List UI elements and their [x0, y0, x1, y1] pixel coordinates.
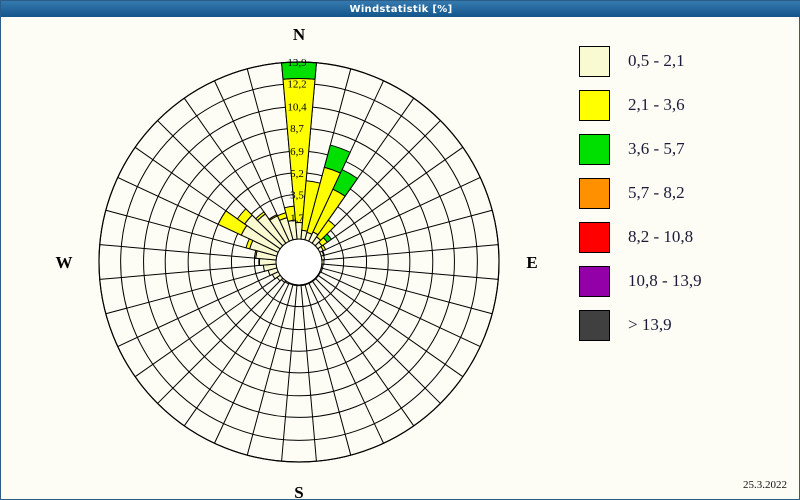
petal-s17-c0 — [301, 284, 305, 285]
legend-swatch — [579, 310, 610, 341]
radial-tick-7: 13,9 — [287, 57, 307, 69]
grid-spoke-13 — [315, 278, 440, 403]
legend-swatch — [579, 178, 610, 209]
legend-item-5[interactable]: 10,8 - 13,9 — [579, 259, 794, 303]
radial-tick-0: 1,7 — [290, 212, 304, 224]
radial-tick-3: 6,9 — [290, 146, 304, 158]
grid-spoke-10 — [321, 268, 492, 314]
petal-s27-c1 — [259, 259, 260, 266]
legend-item-6[interactable]: > 13,9 — [579, 303, 794, 347]
legend-label: 5,7 - 8,2 — [628, 183, 685, 203]
compass-label-east: E — [526, 253, 537, 272]
legend-swatch — [579, 266, 610, 297]
legend-item-1[interactable]: 2,1 - 3,6 — [579, 83, 794, 127]
legend-item-3[interactable]: 5,7 - 8,2 — [579, 171, 794, 215]
radial-tick-1: 3,5 — [290, 189, 304, 201]
grid-spoke-19 — [247, 284, 293, 455]
grid-spoke-25 — [106, 268, 277, 314]
legend-item-4[interactable]: 8,2 - 10,8 — [579, 215, 794, 259]
grid-spoke-15 — [309, 283, 384, 443]
legend-label: 8,2 - 10,8 — [628, 227, 693, 247]
legend-item-2[interactable]: 3,6 - 5,7 — [579, 127, 794, 171]
compass-label-west: W — [56, 253, 73, 272]
grid-spoke-7 — [321, 210, 492, 256]
legend: 0,5 - 2,12,1 - 3,63,6 - 5,75,7 - 8,28,2 … — [579, 39, 794, 347]
legend-swatch — [579, 46, 610, 77]
legend-label: 10,8 - 13,9 — [628, 271, 702, 291]
radial-tick-2: 5,2 — [290, 168, 304, 180]
compass-label-north: N — [293, 25, 306, 44]
petal-s18-c0 — [297, 285, 301, 286]
window-title-bar: Windstatistik [%] — [1, 1, 800, 17]
legend-label: 2,1 - 3,6 — [628, 95, 685, 115]
grid-spoke-22 — [158, 278, 283, 403]
radial-tick-6: 12,2 — [287, 79, 306, 91]
grid-spoke-20 — [214, 283, 289, 443]
legend-swatch — [579, 134, 610, 165]
radial-tick-4: 8,7 — [290, 123, 304, 135]
legend-swatch — [579, 90, 610, 121]
legend-label: 3,6 - 5,7 — [628, 139, 685, 159]
petal-s9-c0 — [322, 260, 324, 264]
grid-spoke-11 — [320, 272, 480, 347]
radial-tick-5: 10,4 — [287, 102, 307, 114]
petal-s8-c0 — [321, 255, 324, 260]
legend-label: > 13,9 — [628, 315, 672, 335]
grid-spoke-16 — [305, 284, 351, 455]
windrose-window: Windstatistik [%] 1,73,55,26,98,710,412,… — [0, 0, 800, 500]
legend-label: 0,5 - 2,1 — [628, 51, 685, 71]
legend-swatch — [579, 222, 610, 253]
window-title: Windstatistik [%] — [350, 4, 453, 15]
compass-label-south: S — [294, 483, 303, 498]
legend-item-0[interactable]: 0,5 - 2,1 — [579, 39, 794, 83]
date-stamp: 25.3.2022 — [743, 479, 787, 491]
grid-spoke-24 — [118, 272, 278, 347]
